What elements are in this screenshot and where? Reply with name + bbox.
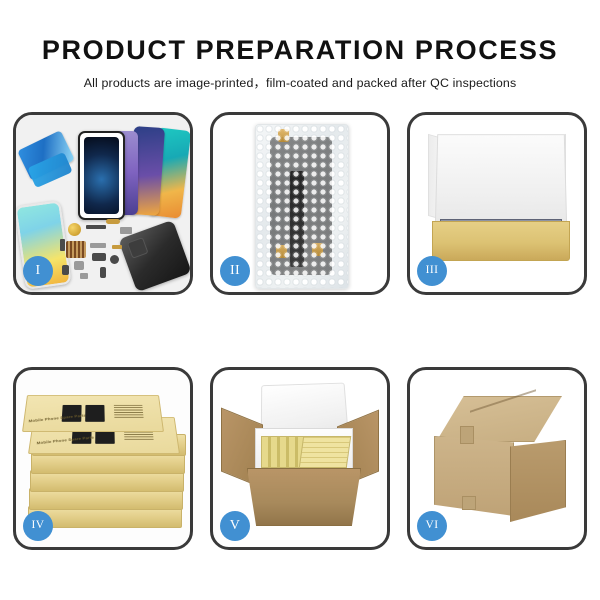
process-step-6[interactable]: VI (407, 367, 587, 550)
step-badge-4: IV (23, 511, 53, 541)
box-lid (435, 134, 568, 231)
kraft-box-body (432, 221, 570, 261)
box-label-text-lines (114, 403, 144, 417)
camera-module-part (110, 255, 119, 264)
spare-part (112, 245, 122, 249)
process-step-2[interactable]: II (210, 112, 390, 295)
process-step-4[interactable]: Mobile Phone Spare Parts Mobile Phone Sp… (13, 367, 193, 550)
box-stack: Mobile Phone Spare Parts Mobile Phone Sp… (26, 392, 184, 526)
step-badge-3: III (417, 256, 447, 286)
bubble-wrap-bag (255, 124, 349, 289)
carton-tape (460, 426, 474, 444)
spare-part (74, 261, 84, 270)
stacked-box-top-face: Mobile Phone Spare Parts (22, 395, 164, 432)
process-step-grid: I II (13, 112, 587, 550)
process-step-3[interactable]: III (407, 112, 587, 295)
ic-chip-part (66, 241, 86, 258)
page-title: PRODUCT PREPARATION PROCESS (0, 0, 600, 64)
spare-part (80, 273, 88, 279)
gold-coil-part (68, 223, 81, 236)
bubble-texture-overlay (256, 125, 348, 288)
tempered-glass-screen (78, 131, 125, 220)
header: PRODUCT PREPARATION PROCESS All products… (0, 0, 600, 91)
process-step-5[interactable]: V (210, 367, 390, 550)
step-badge-2: II (220, 256, 250, 286)
carton-tape (462, 496, 476, 510)
step-badge-6: VI (417, 511, 447, 541)
step-badge-5: V (220, 511, 250, 541)
box-label-image (85, 405, 105, 422)
carton-body (247, 468, 361, 526)
product-preparation-infographic: PRODUCT PREPARATION PROCESS All products… (0, 0, 600, 600)
page-subtitle: All products are image-printed，film-coat… (0, 64, 600, 91)
yellow-boxes-inside (299, 436, 351, 468)
step-badge-1: I (23, 256, 53, 286)
spare-part (120, 227, 132, 234)
spare-part (60, 239, 65, 251)
process-step-1[interactable]: I (13, 112, 193, 295)
spare-part (62, 265, 69, 275)
spare-part (90, 243, 106, 248)
spare-part (92, 253, 106, 261)
spare-part (100, 267, 106, 278)
spare-part (106, 219, 120, 224)
carton-side-face (510, 440, 566, 522)
spare-part (86, 225, 106, 229)
